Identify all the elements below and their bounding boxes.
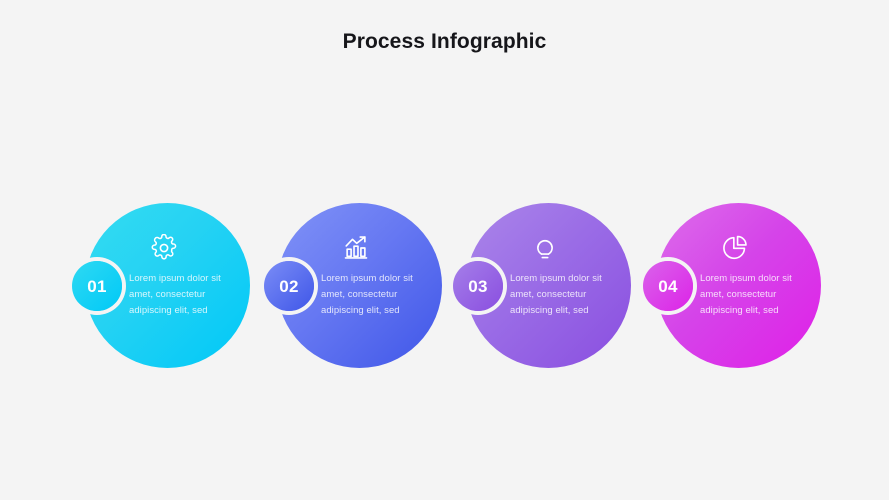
step-1-description: Lorem ipsum dolor sit amet, consectetur … (129, 271, 241, 319)
process-steps-row: Lorem ipsum dolor sit amet, consectetur … (0, 203, 889, 373)
process-step-4[interactable]: Lorem ipsum dolor sit amet, consectetur … (656, 203, 821, 368)
step-2-number: 02 (279, 278, 299, 295)
process-step-2[interactable]: Lorem ipsum dolor sit amet, consectetur … (277, 203, 442, 368)
step-3-description: Lorem ipsum dolor sit amet, consectetur … (510, 271, 622, 319)
step-3-number-badge[interactable]: 03 (453, 261, 503, 311)
page-title: Process Infographic (0, 30, 889, 54)
pie-chart-icon (718, 231, 752, 265)
step-4-description: Lorem ipsum dolor sit amet, consectetur … (700, 271, 812, 319)
step-2-description: Lorem ipsum dolor sit amet, consectetur … (321, 271, 433, 319)
step-1-number: 01 (87, 278, 107, 295)
step-2-number-badge[interactable]: 02 (264, 261, 314, 311)
lightbulb-icon (528, 231, 562, 265)
process-step-3[interactable]: Lorem ipsum dolor sit amet, consectetur … (466, 203, 631, 368)
step-3-number: 03 (468, 278, 488, 295)
growth-chart-icon (339, 231, 373, 265)
gear-icon (147, 231, 181, 265)
step-4-number: 04 (658, 278, 678, 295)
infographic-canvas: Process Infographic Lorem ipsum dolor si… (0, 0, 889, 500)
step-4-number-badge[interactable]: 04 (643, 261, 693, 311)
process-step-1[interactable]: Lorem ipsum dolor sit amet, consectetur … (85, 203, 250, 368)
step-1-number-badge[interactable]: 01 (72, 261, 122, 311)
